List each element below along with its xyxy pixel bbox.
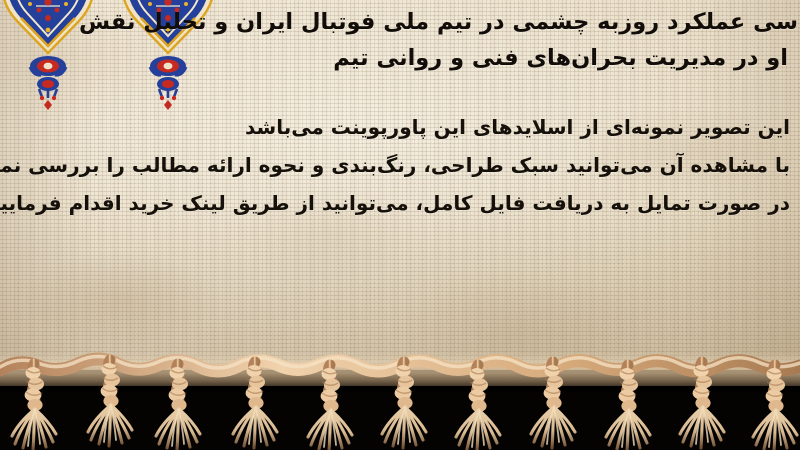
fringe-tassel bbox=[308, 365, 352, 450]
fringe-tassel bbox=[12, 364, 56, 450]
fringe-tassel bbox=[233, 362, 277, 448]
carpet-fringe-tassels bbox=[0, 340, 800, 450]
fringe-tassel bbox=[606, 365, 650, 450]
slide-canvas: سی عملکرد روزبه چشمی در تیم ملی فوتبال ا… bbox=[0, 0, 800, 450]
body-line-1: این تصویر نمونه‌ای از اسلایدهای این پاور… bbox=[10, 108, 790, 146]
fringe-tassel bbox=[753, 365, 797, 450]
body-line-3: در صورت تمایل به دریافت فایل کامل، می‌تو… bbox=[10, 184, 790, 222]
slide-title: سی عملکرد روزبه چشمی در تیم ملی فوتبال ا… bbox=[8, 4, 792, 76]
slide-body: این تصویر نمونه‌ای از اسلایدهای این پاور… bbox=[10, 108, 790, 222]
title-line-1: سی عملکرد روزبه چشمی در تیم ملی فوتبال ا… bbox=[8, 4, 798, 40]
fringe-tassel bbox=[156, 364, 200, 450]
fringe-tassel bbox=[456, 365, 500, 450]
title-line-2: او در مدیریت بحران‌های فنی و روانی تیم bbox=[8, 40, 788, 76]
body-line-2: با مشاهده آن می‌توانید سبک طراحی، رنگ‌بن… bbox=[10, 146, 790, 184]
